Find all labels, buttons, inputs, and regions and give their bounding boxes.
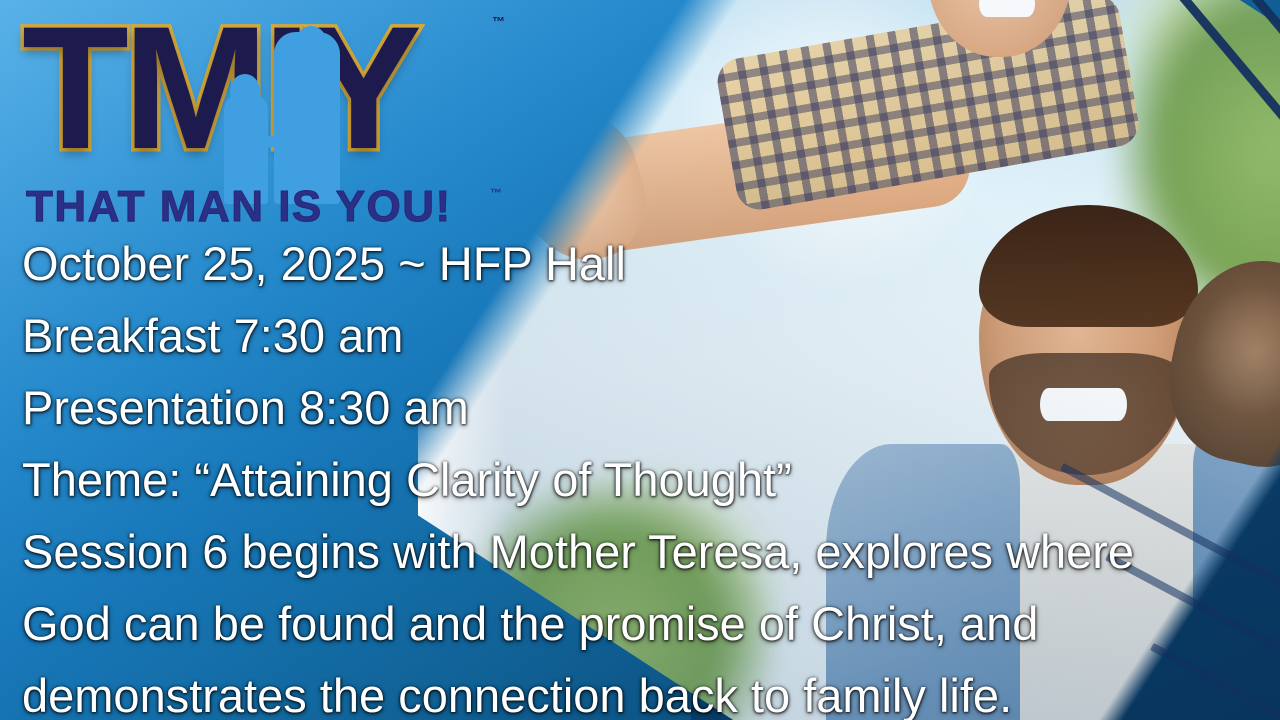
presentation-slide: TMIY ™ THAT MAN IS YOU! ™ October 25, 20…	[0, 0, 1280, 720]
silhouette-child-head	[230, 74, 260, 108]
silhouette-father-head	[294, 26, 328, 66]
event-details-text: October 25, 2025 ~ HFP Hall Breakfast 7:…	[22, 228, 1272, 720]
text-line-date-venue: October 25, 2025 ~ HFP Hall	[22, 228, 1272, 300]
tmiy-logo: TMIY ™ THAT MAN IS YOU! ™	[22, 6, 522, 238]
logo-subtitle: THAT MAN IS YOU!	[26, 182, 452, 232]
father-child-silhouette-icon	[218, 26, 350, 204]
text-line-presentation: Presentation 8:30 am	[22, 372, 1272, 444]
logo-subtitle-trademark: ™	[490, 186, 502, 200]
text-line-breakfast: Breakfast 7:30 am	[22, 300, 1272, 372]
text-line-theme: Theme: “Attaining Clarity of Thought”	[22, 444, 1272, 516]
text-line-description-3: demonstrates the connection back to fami…	[22, 660, 1272, 720]
text-line-description-1: Session 6 begins with Mother Teresa, exp…	[22, 516, 1272, 588]
logo-trademark: ™	[492, 14, 505, 29]
text-line-description-2: God can be found and the promise of Chri…	[22, 588, 1272, 660]
